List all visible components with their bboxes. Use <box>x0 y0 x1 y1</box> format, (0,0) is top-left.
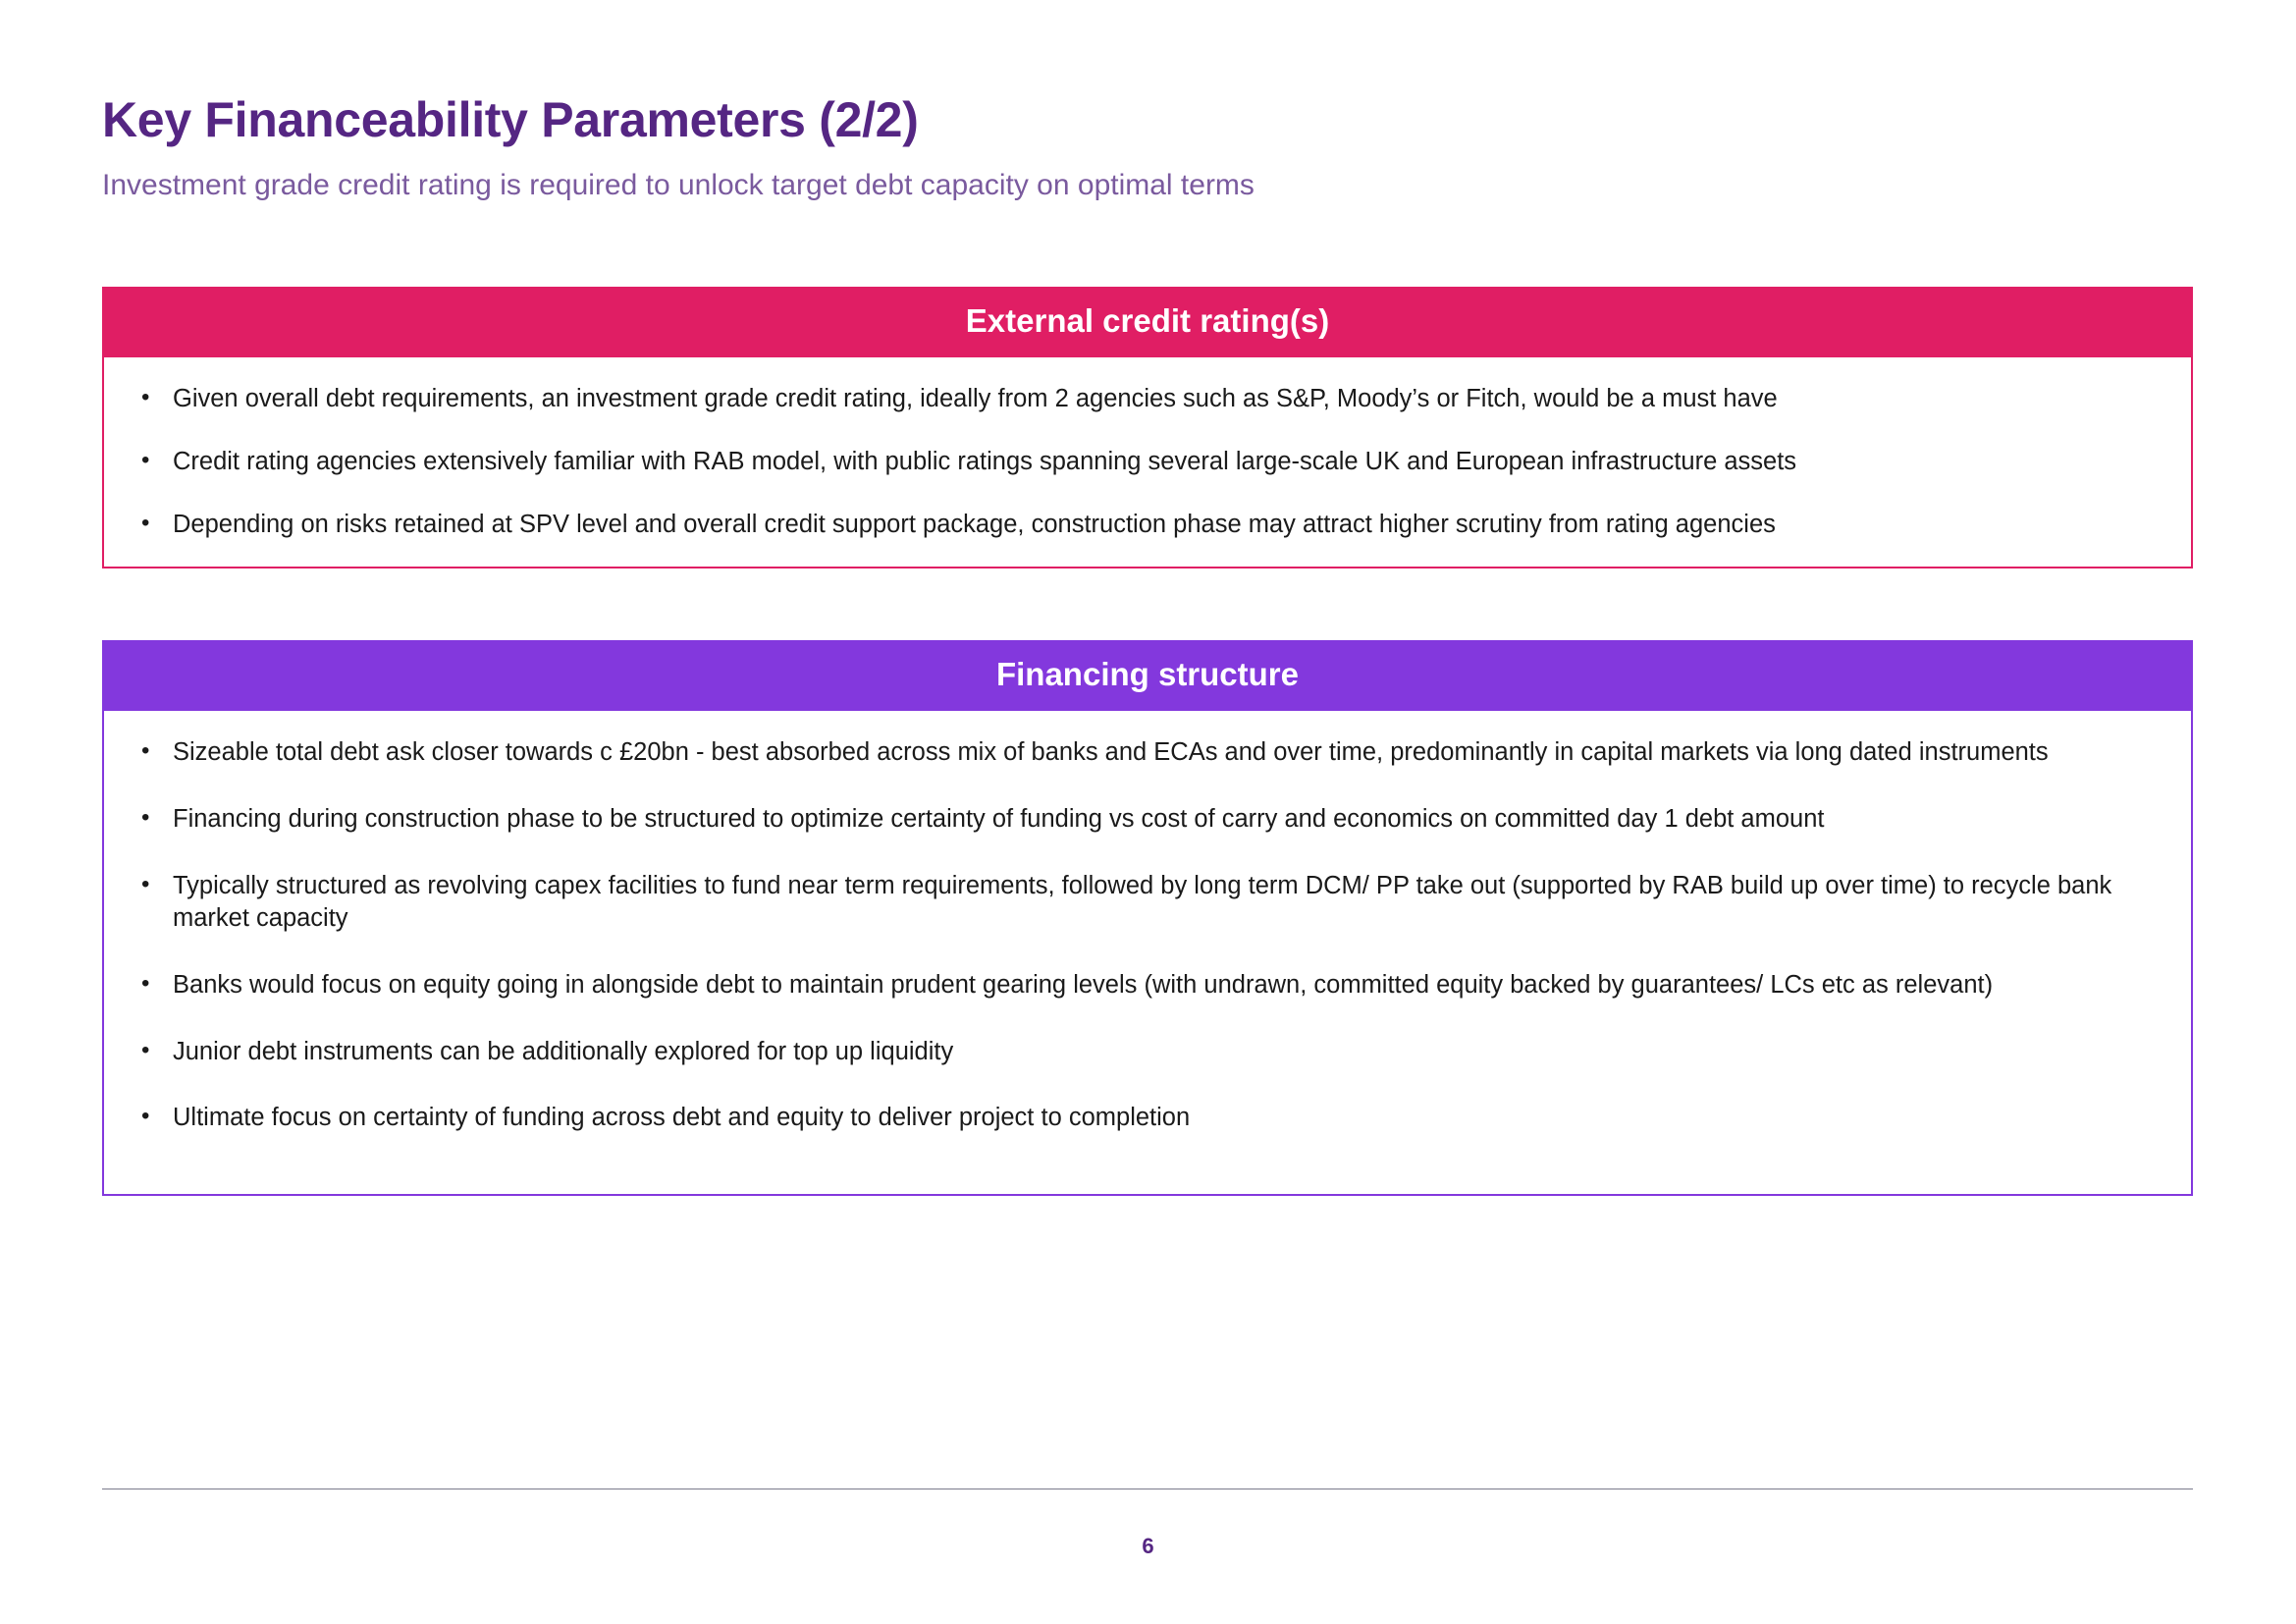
list-item: Sizeable total debt ask closer towards c… <box>122 736 2162 770</box>
slide-canvas: Key Financeability Parameters (2/2) Inve… <box>0 0 2296 1624</box>
list-item: Typically structured as revolving capex … <box>122 870 2162 936</box>
list-item: Banks would focus on equity going in alo… <box>122 969 2162 1002</box>
page-title: Key Financeability Parameters (2/2) <box>102 94 2163 146</box>
panel-header-external-credit-ratings: External credit rating(s) <box>102 287 2193 357</box>
footer-divider <box>102 1489 2193 1489</box>
list-item: Credit rating agencies extensively famil… <box>122 446 2162 479</box>
title-block: Key Financeability Parameters (2/2) Inve… <box>102 94 2163 203</box>
page-number: 6 <box>0 1534 2296 1559</box>
panel-header-financing-structure: Financing structure <box>102 640 2193 711</box>
list-item: Junior debt instruments can be additiona… <box>122 1036 2162 1069</box>
bullet-list-financing-structure: Sizeable total debt ask closer towards c… <box>122 736 2162 1135</box>
bullet-list-external-credit-ratings: Given overall debt requirements, an inve… <box>122 383 2162 541</box>
list-item: Ultimate focus on certainty of funding a… <box>122 1102 2162 1135</box>
panel-body-financing-structure: Sizeable total debt ask closer towards c… <box>102 711 2193 1196</box>
page-subtitle: Investment grade credit rating is requir… <box>102 168 2163 203</box>
list-item: Given overall debt requirements, an inve… <box>122 383 2162 416</box>
panel-external-credit-ratings: External credit rating(s) Given overall … <box>102 287 2193 568</box>
list-item: Depending on risks retained at SPV level… <box>122 509 2162 542</box>
list-item: Financing during construction phase to b… <box>122 803 2162 837</box>
panel-financing-structure: Financing structure Sizeable total debt … <box>102 640 2193 1196</box>
panel-body-external-credit-ratings: Given overall debt requirements, an inve… <box>102 357 2193 568</box>
